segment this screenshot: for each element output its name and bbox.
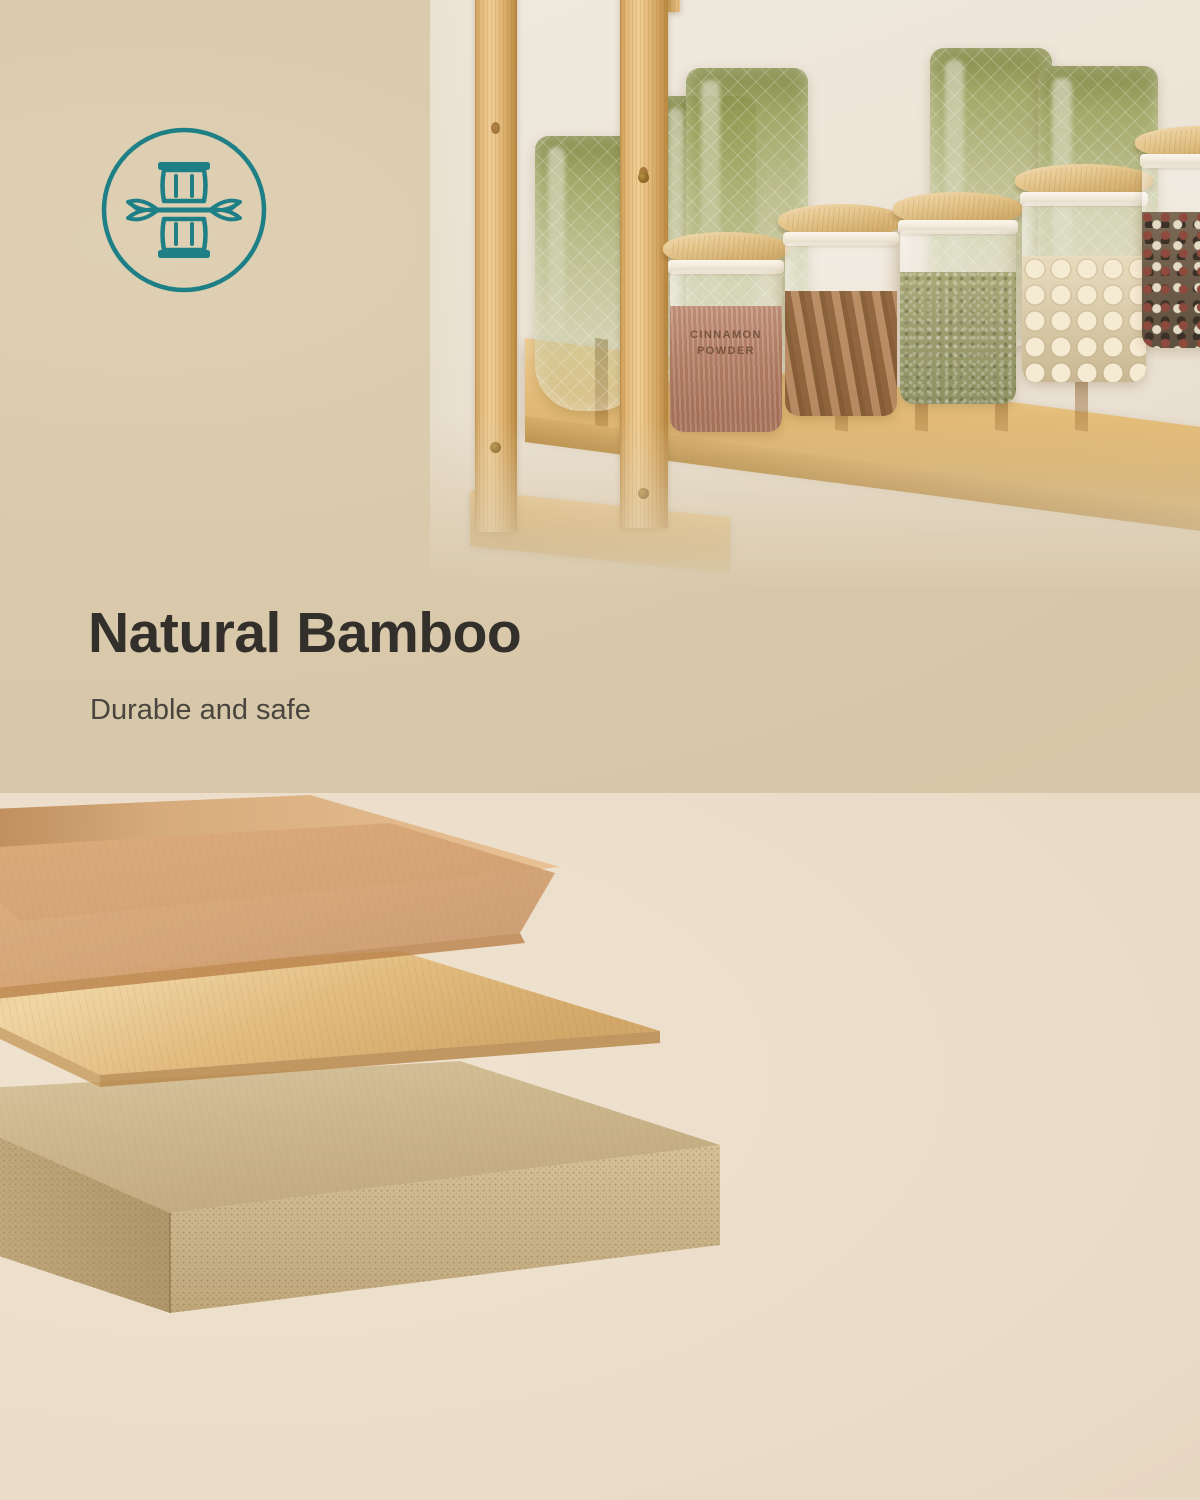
bamboo-panels-layer — [0, 1061, 720, 1313]
material-construction-section: Protective Coating Clear Lacquer Bamboo … — [0, 793, 1200, 1500]
bamboo-badge — [96, 122, 272, 298]
bamboo-icon — [96, 122, 272, 298]
natural-bamboo-section: CINNAMON POWDER — [0, 0, 1200, 793]
photo-fade-overlay — [430, 0, 1200, 586]
page-title: Natural Bamboo — [88, 600, 521, 666]
bamboo-layers-diagram — [0, 793, 720, 1313]
page-subtitle: Durable and safe — [90, 694, 311, 727]
product-photo: CINNAMON POWDER — [430, 0, 1200, 586]
